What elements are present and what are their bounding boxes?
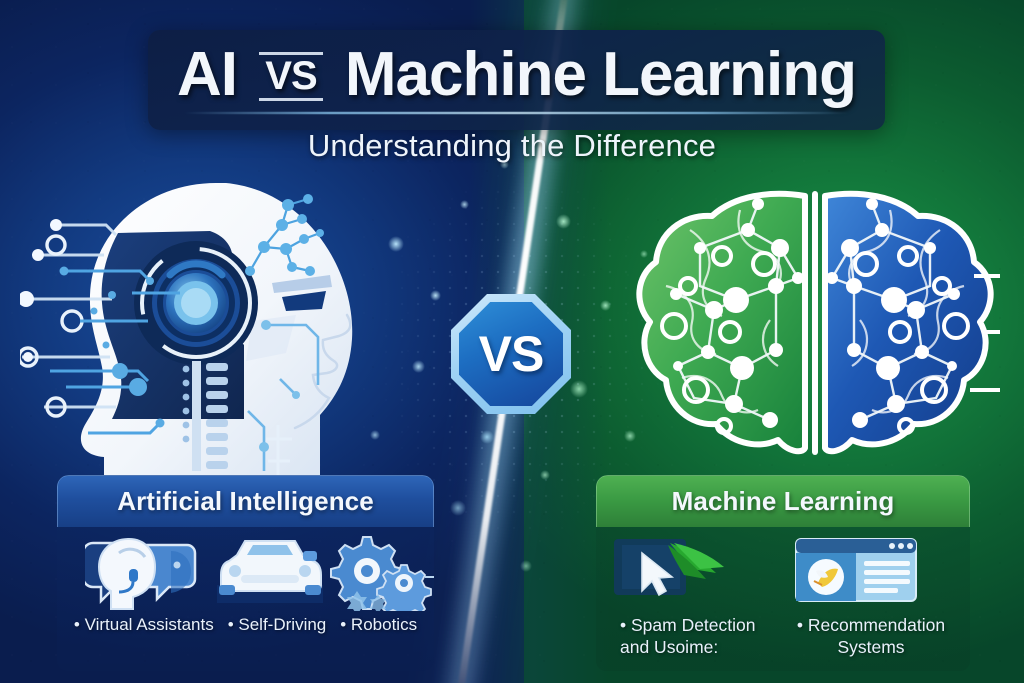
recommendation-window-icon	[792, 535, 922, 607]
ai-card-header: Artificial Intelligence	[57, 475, 434, 527]
ml-card-header: Machine Learning	[596, 475, 970, 527]
ml-bullet-1-line1: • Recommendation	[797, 615, 945, 635]
robotics-gears-icon	[329, 531, 434, 611]
title-ai: AI	[177, 40, 237, 109]
ml-bullet-list: • Spam Detection and Usoime: • Recommend…	[596, 615, 970, 659]
ml-bullet-0: • Spam Detection and Usoime:	[620, 615, 770, 659]
ml-icon-row	[596, 527, 970, 615]
page-title: AI VS Machine Learning	[148, 44, 885, 106]
ai-bullet-list: • Virtual Assistants • Self-Driving • Ro…	[57, 615, 434, 635]
ml-card-title: Machine Learning	[672, 486, 895, 517]
virtual-assistant-icon	[85, 533, 205, 613]
artificial-intelligence-card: Artificial Intelligence	[57, 475, 434, 671]
ml-bullet-1: • Recommendation Systems	[796, 615, 946, 659]
ai-bullet-1: • Self-Driving	[228, 615, 327, 635]
page-subtitle: Understanding the Difference	[0, 128, 1024, 164]
ai-bullet-0: • Virtual Assistants	[74, 615, 214, 635]
ai-robot-head-illustration	[20, 175, 410, 475]
spam-detection-icon	[608, 529, 738, 609]
ai-icon-row	[57, 527, 434, 615]
ml-bullet-1-line2: Systems	[837, 637, 904, 657]
title-vs-token: VS	[259, 52, 322, 101]
vs-badge-label: VS	[479, 325, 544, 383]
ml-bullet-0-line2: and Usoime:	[620, 637, 718, 657]
ai-card-title: Artificial Intelligence	[117, 486, 374, 517]
ai-bullet-2: • Robotics	[340, 615, 417, 635]
infographic-canvas: AI VS Machine Learning Understanding the…	[0, 0, 1024, 683]
title-underline	[184, 112, 849, 114]
machine-learning-card: Machine Learning	[596, 475, 970, 671]
title-panel: AI VS Machine Learning	[148, 30, 885, 130]
title-machine-learning: Machine Learning	[345, 40, 856, 109]
ml-bullet-0-line1: • Spam Detection	[620, 615, 756, 635]
ml-neural-brain-illustration	[630, 190, 1000, 460]
self-driving-car-icon	[215, 535, 325, 609]
